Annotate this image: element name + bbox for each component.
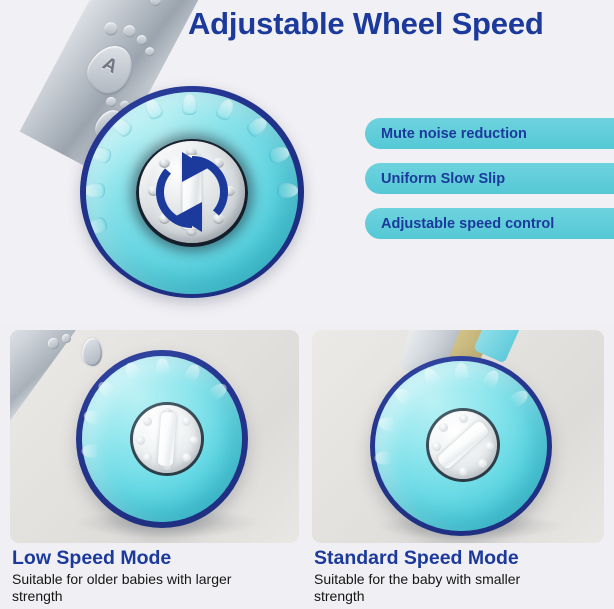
- tire-tread: [377, 416, 398, 433]
- toe-emboss-3: [135, 33, 149, 47]
- toe-emboss-1: [102, 20, 120, 38]
- tire-tread: [86, 183, 105, 198]
- feature-pill-list: Mute noise reduction Uniform Slow Slip A…: [365, 118, 614, 253]
- caption-title: Low Speed Mode: [12, 547, 304, 570]
- wheel-hub: [139, 141, 245, 243]
- feature-pill-label: Uniform Slow Slip: [381, 171, 505, 187]
- wheel-low-speed: [76, 350, 248, 528]
- rotate-arrows-icon: [146, 146, 238, 238]
- caption-low-speed: Low Speed Mode Suitable for older babies…: [12, 547, 304, 604]
- hub-dimple: [143, 453, 152, 462]
- feature-pill-adjustable-speed-control[interactable]: Adjustable speed control: [365, 208, 614, 239]
- tire-tread: [392, 386, 414, 407]
- feature-pill-uniform-slow-slip[interactable]: Uniform Slow Slip: [365, 163, 614, 194]
- hub-dimple: [439, 423, 448, 432]
- tire-tread: [156, 358, 169, 376]
- hub-dimple: [432, 442, 441, 451]
- infographic-page: A: [0, 0, 614, 609]
- caption-standard-speed: Standard Speed Mode Suitable for the bab…: [314, 547, 606, 604]
- panel-handle-shaft: [10, 330, 79, 447]
- toe-emboss: [48, 338, 59, 349]
- tire-tread: [455, 363, 468, 381]
- panel-low-speed-photo: [10, 330, 299, 543]
- hub-dimple: [182, 417, 191, 426]
- hub-dimple: [182, 453, 191, 462]
- tire-tread: [88, 144, 113, 165]
- caption-title: Standard Speed Mode: [314, 547, 606, 570]
- tire-tread: [482, 368, 502, 390]
- wheel-standard-speed: [370, 356, 552, 536]
- feature-pill-label: Mute noise reduction: [381, 126, 527, 142]
- caption-subtitle: Suitable for older babies with larger st…: [12, 571, 267, 604]
- toe-emboss-9: [149, 0, 163, 8]
- tire-tread: [214, 97, 236, 122]
- feature-pill-mute-noise-reduction[interactable]: Mute noise reduction: [365, 118, 614, 149]
- hub-dimple: [459, 414, 468, 423]
- wheel-hub: [429, 411, 497, 479]
- tire-tread: [422, 366, 442, 388]
- toe-emboss-4: [144, 46, 156, 58]
- wheel-hub: [133, 405, 201, 473]
- panel-standard-speed-photo: [312, 330, 604, 543]
- tire-tread: [81, 444, 99, 458]
- toe-emboss: [62, 334, 71, 343]
- toe-emboss-2: [121, 23, 137, 39]
- hub-dimple: [459, 467, 468, 476]
- tire-tread: [183, 362, 203, 384]
- tire-tread: [182, 94, 197, 115]
- feature-pill-label: Adjustable speed control: [381, 216, 554, 232]
- page-title: Adjustable Wheel Speed: [188, 6, 608, 42]
- hero-section: A: [0, 0, 614, 322]
- main-product-wheel: [76, 84, 308, 300]
- hub-dimple: [485, 442, 494, 451]
- tire-tread: [374, 451, 392, 465]
- hub-dimple: [189, 436, 198, 445]
- hub-dimple: [143, 417, 152, 426]
- tire-tread: [277, 183, 298, 198]
- hub-screw-slot: [158, 412, 177, 467]
- hub-dimple: [136, 436, 145, 445]
- caption-subtitle: Suitable for the baby with smaller stren…: [314, 571, 569, 604]
- tire-tread: [82, 409, 103, 426]
- hub-dimple: [478, 459, 487, 468]
